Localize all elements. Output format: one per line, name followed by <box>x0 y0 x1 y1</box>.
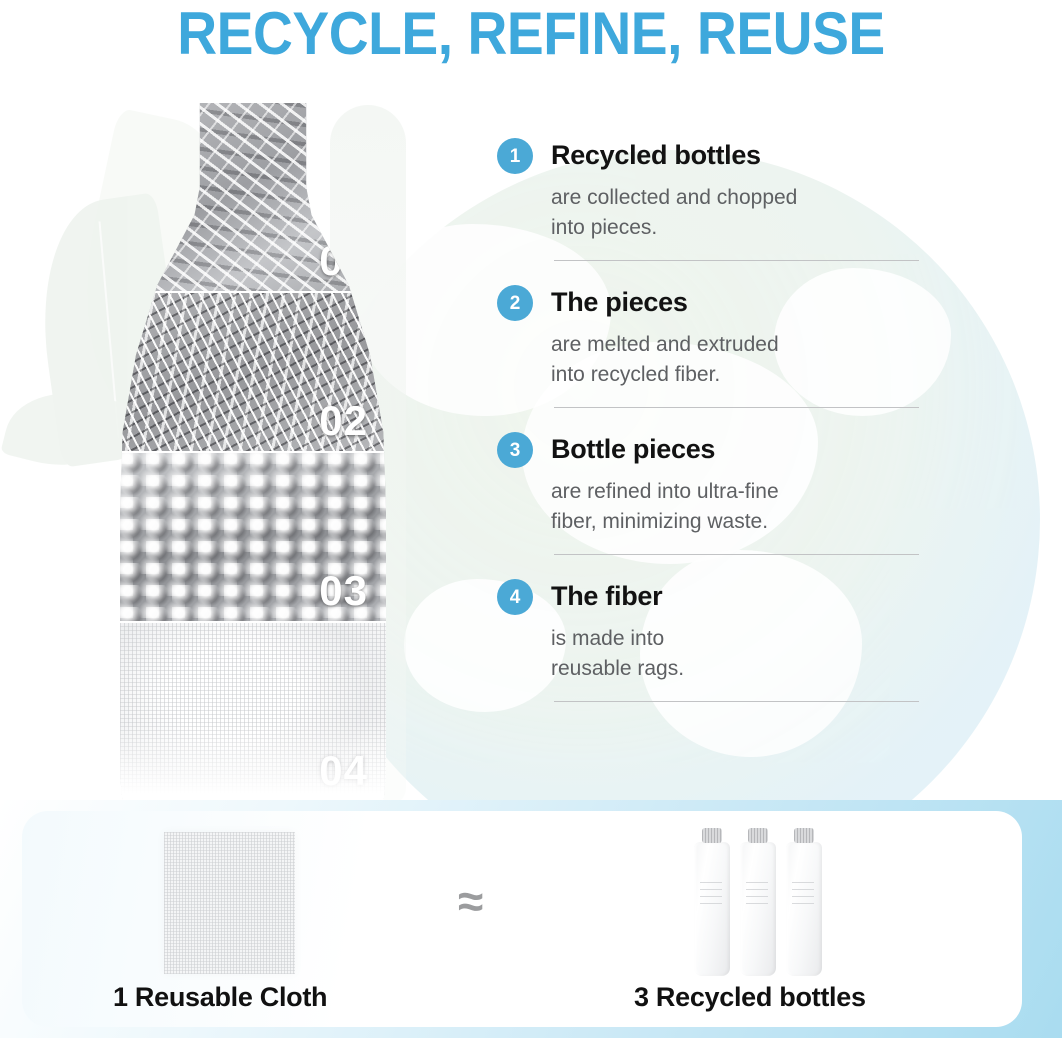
step-header: 1 Recycled bottles <box>497 138 927 174</box>
band-number-label: 01 <box>319 237 368 285</box>
step-description-line: is made into <box>551 624 881 654</box>
step-description: are melted and extruded into recycled fi… <box>551 330 881 390</box>
step-description-line: into pieces. <box>551 213 881 243</box>
step-divider <box>554 554 919 555</box>
process-step-3: 3 Bottle pieces are refined into ultra-f… <box>497 432 927 555</box>
step-description: are collected and chopped into pieces. <box>551 183 881 243</box>
bottle-process-figure: 01 02 03 04 <box>120 103 386 803</box>
step-description-line: into recycled fiber. <box>551 360 881 390</box>
step-description-line: fiber, minimizing waste. <box>551 507 881 537</box>
step-header: 4 The fiber <box>497 579 927 615</box>
reusable-cloth-image <box>164 832 295 974</box>
bottle-shape-clip: 01 02 03 04 <box>120 103 386 803</box>
bottle-bottom-fade <box>120 723 386 803</box>
step-title: Bottle pieces <box>551 435 715 465</box>
process-step-1: 1 Recycled bottles are collected and cho… <box>497 138 927 261</box>
step-divider <box>554 701 919 702</box>
process-step-4: 4 The fiber is made into reusable rags. <box>497 579 927 702</box>
step-divider <box>554 260 919 261</box>
step-description: is made into reusable rags. <box>551 624 881 684</box>
step-description: are refined into ultra-fine fiber, minim… <box>551 477 881 537</box>
bottle-icon <box>786 842 822 976</box>
step-title: The pieces <box>551 288 688 318</box>
process-band-01: 01 <box>120 103 386 293</box>
page-title: RECYCLE, REFINE, REUSE <box>42 2 1019 66</box>
step-description-line: are refined into ultra-fine <box>551 477 881 507</box>
step-title: The fiber <box>551 582 662 612</box>
step-number-badge: 1 <box>497 138 533 174</box>
process-step-2: 2 The pieces are melted and extruded int… <box>497 285 927 408</box>
process-steps-list: 1 Recycled bottles are collected and cho… <box>497 138 927 702</box>
approximately-equal-icon: ≈ <box>458 878 483 924</box>
comparison-left-label: 1 Reusable Cloth <box>113 982 327 1013</box>
step-description-line: are collected and chopped <box>551 183 881 213</box>
bottle-icon <box>740 842 776 976</box>
step-header: 2 The pieces <box>497 285 927 321</box>
leaf-watermark-icon <box>0 377 130 481</box>
step-header: 3 Bottle pieces <box>497 432 927 468</box>
infographic-page: RECYCLE, REFINE, REUSE 01 02 03 04 1 <box>0 0 1062 1038</box>
bottle-icon <box>694 842 730 976</box>
process-band-02: 02 <box>120 293 386 453</box>
comparison-right-label: 3 Recycled bottles <box>634 982 866 1013</box>
band-number-label: 02 <box>319 397 368 445</box>
step-description-line: reusable rags. <box>551 654 881 684</box>
recycled-bottles-image <box>694 828 834 976</box>
step-number-badge: 2 <box>497 285 533 321</box>
step-description-line: are melted and extruded <box>551 330 881 360</box>
step-number-badge: 3 <box>497 432 533 468</box>
step-title: Recycled bottles <box>551 141 761 171</box>
band-number-label: 03 <box>319 567 368 615</box>
process-band-03: 03 <box>120 453 386 623</box>
step-divider <box>554 407 919 408</box>
step-number-badge: 4 <box>497 579 533 615</box>
